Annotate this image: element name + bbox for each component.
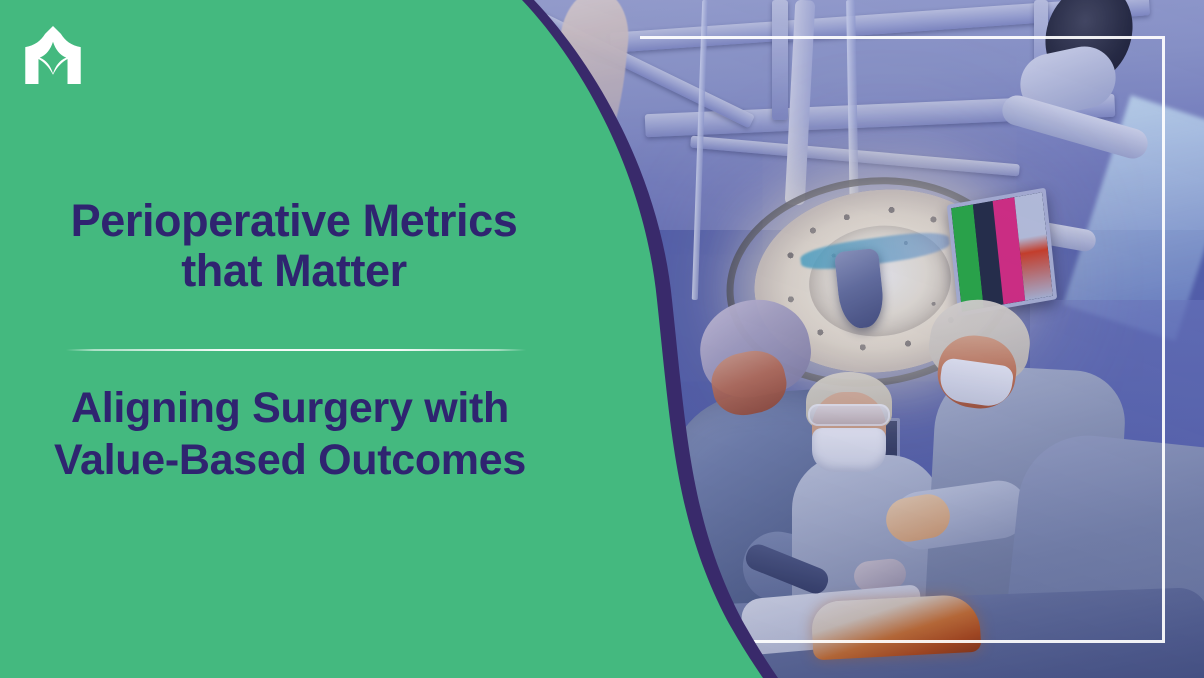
headline-line-1: Perioperative Metrics — [71, 195, 518, 246]
surgical-site — [811, 594, 982, 661]
subheadline-line-2: Value-Based Outcomes — [54, 436, 526, 484]
page-title: Perioperative Metrics that Matter — [8, 196, 580, 297]
headline-line-2: that Matter — [181, 245, 407, 296]
page-subtitle: Aligning Surgery with Value-Based Outcom… — [0, 382, 580, 487]
headline-block: Perioperative Metrics that Matter — [0, 196, 580, 297]
promo-banner: Perioperative Metrics that Matter Aligni… — [0, 0, 1204, 678]
title-divider — [66, 349, 526, 351]
subheadline-line-1: Aligning Surgery with — [71, 384, 509, 432]
or-wall-monitor — [947, 188, 1057, 317]
surgical-mask — [812, 428, 886, 472]
m-monogram-diamond-icon[interactable] — [20, 22, 86, 88]
banner-content: Perioperative Metrics that Matter Aligni… — [0, 0, 580, 678]
ceiling-beam — [772, 0, 788, 120]
subheadline-block: Aligning Surgery with Value-Based Outcom… — [0, 382, 580, 487]
safety-goggles — [808, 404, 890, 426]
